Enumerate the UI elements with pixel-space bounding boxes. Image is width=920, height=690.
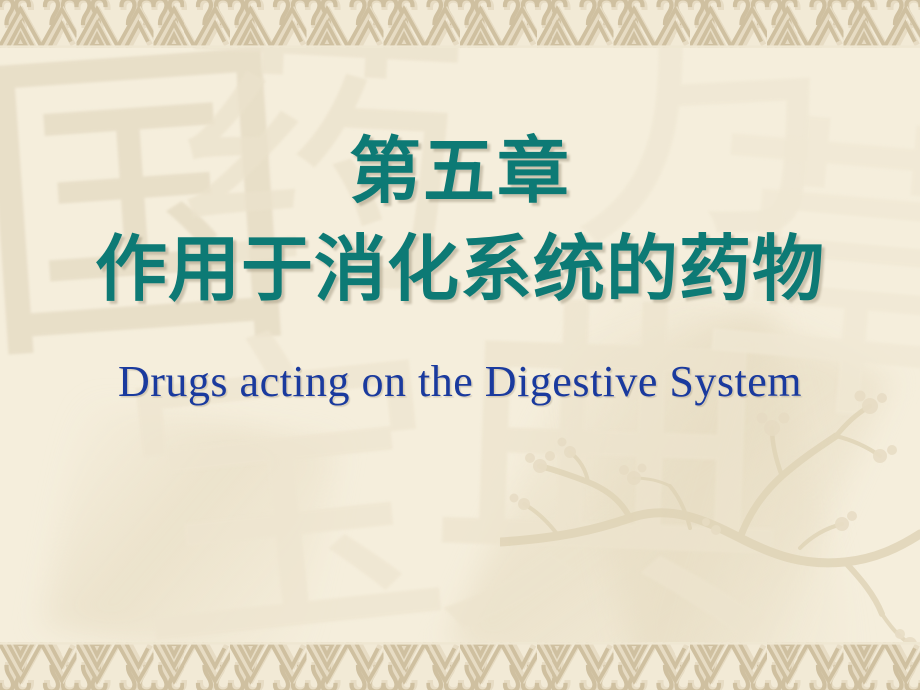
title-slide: 国 药 宝 典 方 草 [0,0,920,690]
page-title-line-2: 作用于消化系统的药物 [0,228,920,310]
page-title-line-1: 第五章 [0,130,920,212]
slide-content: 第五章 作用于消化系统的药物 Drugs acting on the Diges… [0,0,920,690]
page-subtitle: Drugs acting on the Digestive System [0,356,920,408]
